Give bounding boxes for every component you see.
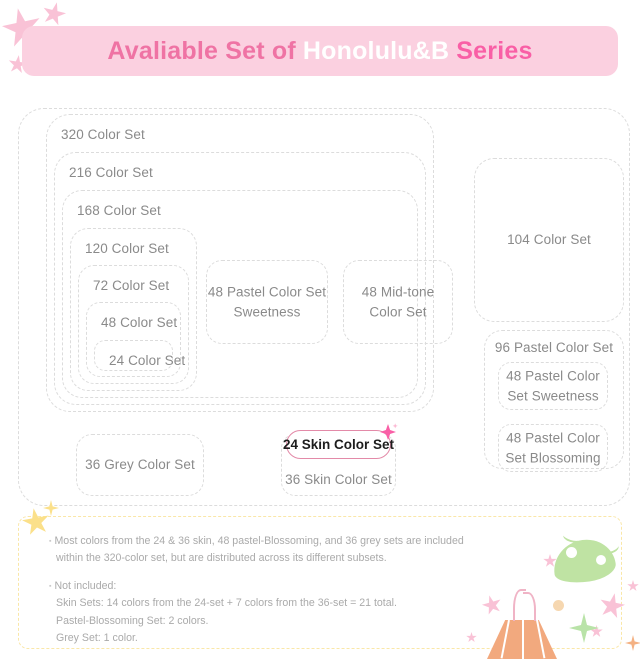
footer-note-text: Most colors from the 24 & 36 skin, 48 pa…: [49, 533, 549, 647]
page-title-part2: Honolulu&B: [303, 37, 449, 66]
footer-paragraph-2: Not included: Skin Sets: 14 colors from …: [49, 578, 549, 647]
star-icon-top-2: [39, 0, 68, 29]
footer-paragraph-1: Most colors from the 24 & 36 skin, 48 pa…: [49, 533, 549, 567]
color-set-diagram: 320 Color Set 216 Color Set 168 Color Se…: [0, 100, 640, 510]
set-label-48-pastel-sweetness: 48 Pastel Color Set Sweetness: [207, 282, 327, 321]
footer-p2-line2: Pastel-Blossoming Set: 2 colors.: [49, 613, 549, 630]
page-title-part1: Avaliable Set of: [107, 37, 295, 66]
footer-p1-line1: Most colors from the 24 & 36 skin, 48 pa…: [49, 535, 464, 547]
footer-p2-line3: Grey Set: 1 color.: [49, 630, 549, 647]
set-label-48-midtone: 48 Mid-tone Color Set: [344, 282, 452, 321]
set-label-96-pastel: 96 Pastel Color Set: [485, 340, 623, 355]
set-label-168: 168 Color Set: [77, 203, 161, 218]
sparkle-icon: [375, 420, 399, 444]
set-box-24[interactable]: 24 Color Set: [94, 340, 173, 371]
footer-p2-heading: Not included:: [49, 580, 116, 592]
set-label-320: 320 Color Set: [61, 127, 145, 142]
footer-p2-line1: Skin Sets: 14 colors from the 24-set + 7…: [49, 595, 549, 612]
set-box-96-pastel[interactable]: 96 Pastel Color Set 48 Pastel Color Set …: [484, 330, 624, 469]
page-title-banner: Avaliable Set of Honolulu&B Series: [22, 26, 618, 76]
star-icon-footer-pink-6: [627, 580, 639, 592]
set-box-48-pastel-sweetness[interactable]: 48 Pastel Color Set Sweetness: [206, 260, 328, 344]
set-box-48-pastel-sweetness-sub[interactable]: 48 Pastel Color Set Sweetness: [498, 362, 608, 410]
flower-icon-orange: [625, 635, 640, 651]
set-label-36-skin: 36 Skin Color Set: [282, 472, 395, 487]
set-label-36-grey: 36 Grey Color Set: [77, 455, 203, 475]
set-box-104[interactable]: 104 Color Set: [474, 158, 624, 322]
set-label-216: 216 Color Set: [69, 165, 153, 180]
set-label-48-pastel-sweetness-sub: 48 Pastel Color Set Sweetness: [499, 366, 607, 405]
set-label-72: 72 Color Set: [93, 278, 169, 293]
set-label-48: 48 Color Set: [101, 315, 177, 330]
set-box-48-pastel-blossoming[interactable]: 48 Pastel Color Set Blossoming: [498, 424, 608, 472]
set-box-24-skin-highlighted[interactable]: 24 Skin Color Set: [286, 430, 391, 459]
page-title-part3: Series: [456, 37, 532, 66]
set-label-24: 24 Color Set: [109, 353, 185, 368]
footer-p1-line2: within the 320-color set, but are distri…: [49, 550, 549, 567]
set-box-36-grey[interactable]: 36 Grey Color Set: [76, 434, 204, 496]
set-label-120: 120 Color Set: [85, 241, 169, 256]
set-label-104: 104 Color Set: [475, 230, 623, 250]
set-box-48-midtone[interactable]: 48 Mid-tone Color Set: [343, 260, 453, 344]
set-label-48-pastel-blossoming: 48 Pastel Color Set Blossoming: [499, 428, 607, 467]
